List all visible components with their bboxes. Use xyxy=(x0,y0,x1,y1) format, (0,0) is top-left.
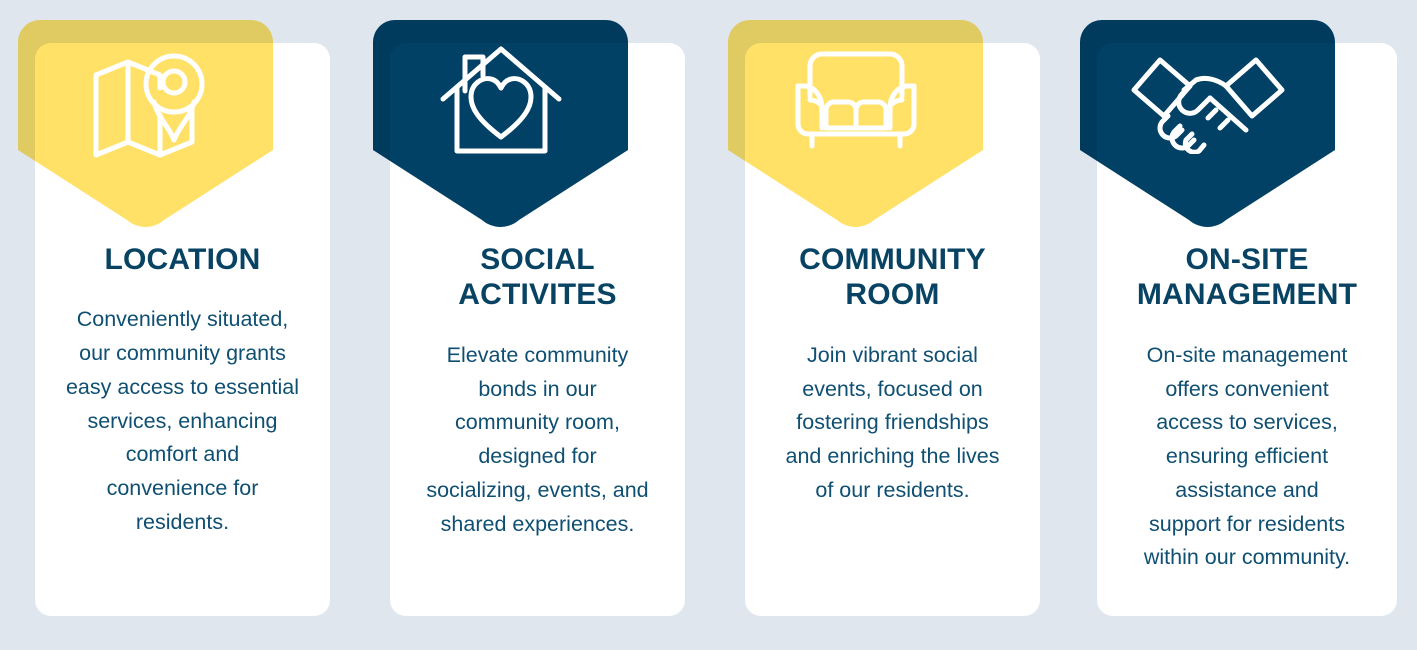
card-description: On-site management offers convenient acc… xyxy=(1144,313,1350,575)
card-description: Elevate community bonds in our community… xyxy=(426,313,648,542)
card-title: LOCATION xyxy=(104,228,260,277)
feature-card-social-activites[interactable]: SOCIAL ACTIVITES Elevate community bonds… xyxy=(355,0,710,650)
card-title: ON-SITE MANAGEMENT xyxy=(1137,228,1357,313)
card-banner xyxy=(1080,20,1335,227)
card-banner xyxy=(373,20,628,227)
feature-card-location[interactable]: LOCATION Conveniently situated, our comm… xyxy=(0,0,355,650)
card-body: SOCIAL ACTIVITES Elevate community bonds… xyxy=(390,228,685,616)
card-description: Join vibrant social events, focused on f… xyxy=(786,313,1000,508)
feature-card-on-site-management[interactable]: ON-SITE MANAGEMENT On-site management of… xyxy=(1065,0,1417,650)
feature-cards-section: LOCATION Conveniently situated, our comm… xyxy=(0,0,1417,650)
card-description: Conveniently situated, our community gra… xyxy=(66,277,299,539)
card-body: COMMUNITY ROOM Join vibrant social event… xyxy=(745,228,1040,616)
card-title: SOCIAL ACTIVITES xyxy=(458,228,616,313)
card-title: COMMUNITY ROOM xyxy=(799,228,986,313)
card-banner xyxy=(728,20,983,227)
card-banner xyxy=(18,20,273,227)
card-body: LOCATION Conveniently situated, our comm… xyxy=(35,228,330,616)
feature-card-community-room[interactable]: COMMUNITY ROOM Join vibrant social event… xyxy=(710,0,1065,650)
card-body: ON-SITE MANAGEMENT On-site management of… xyxy=(1097,228,1397,616)
